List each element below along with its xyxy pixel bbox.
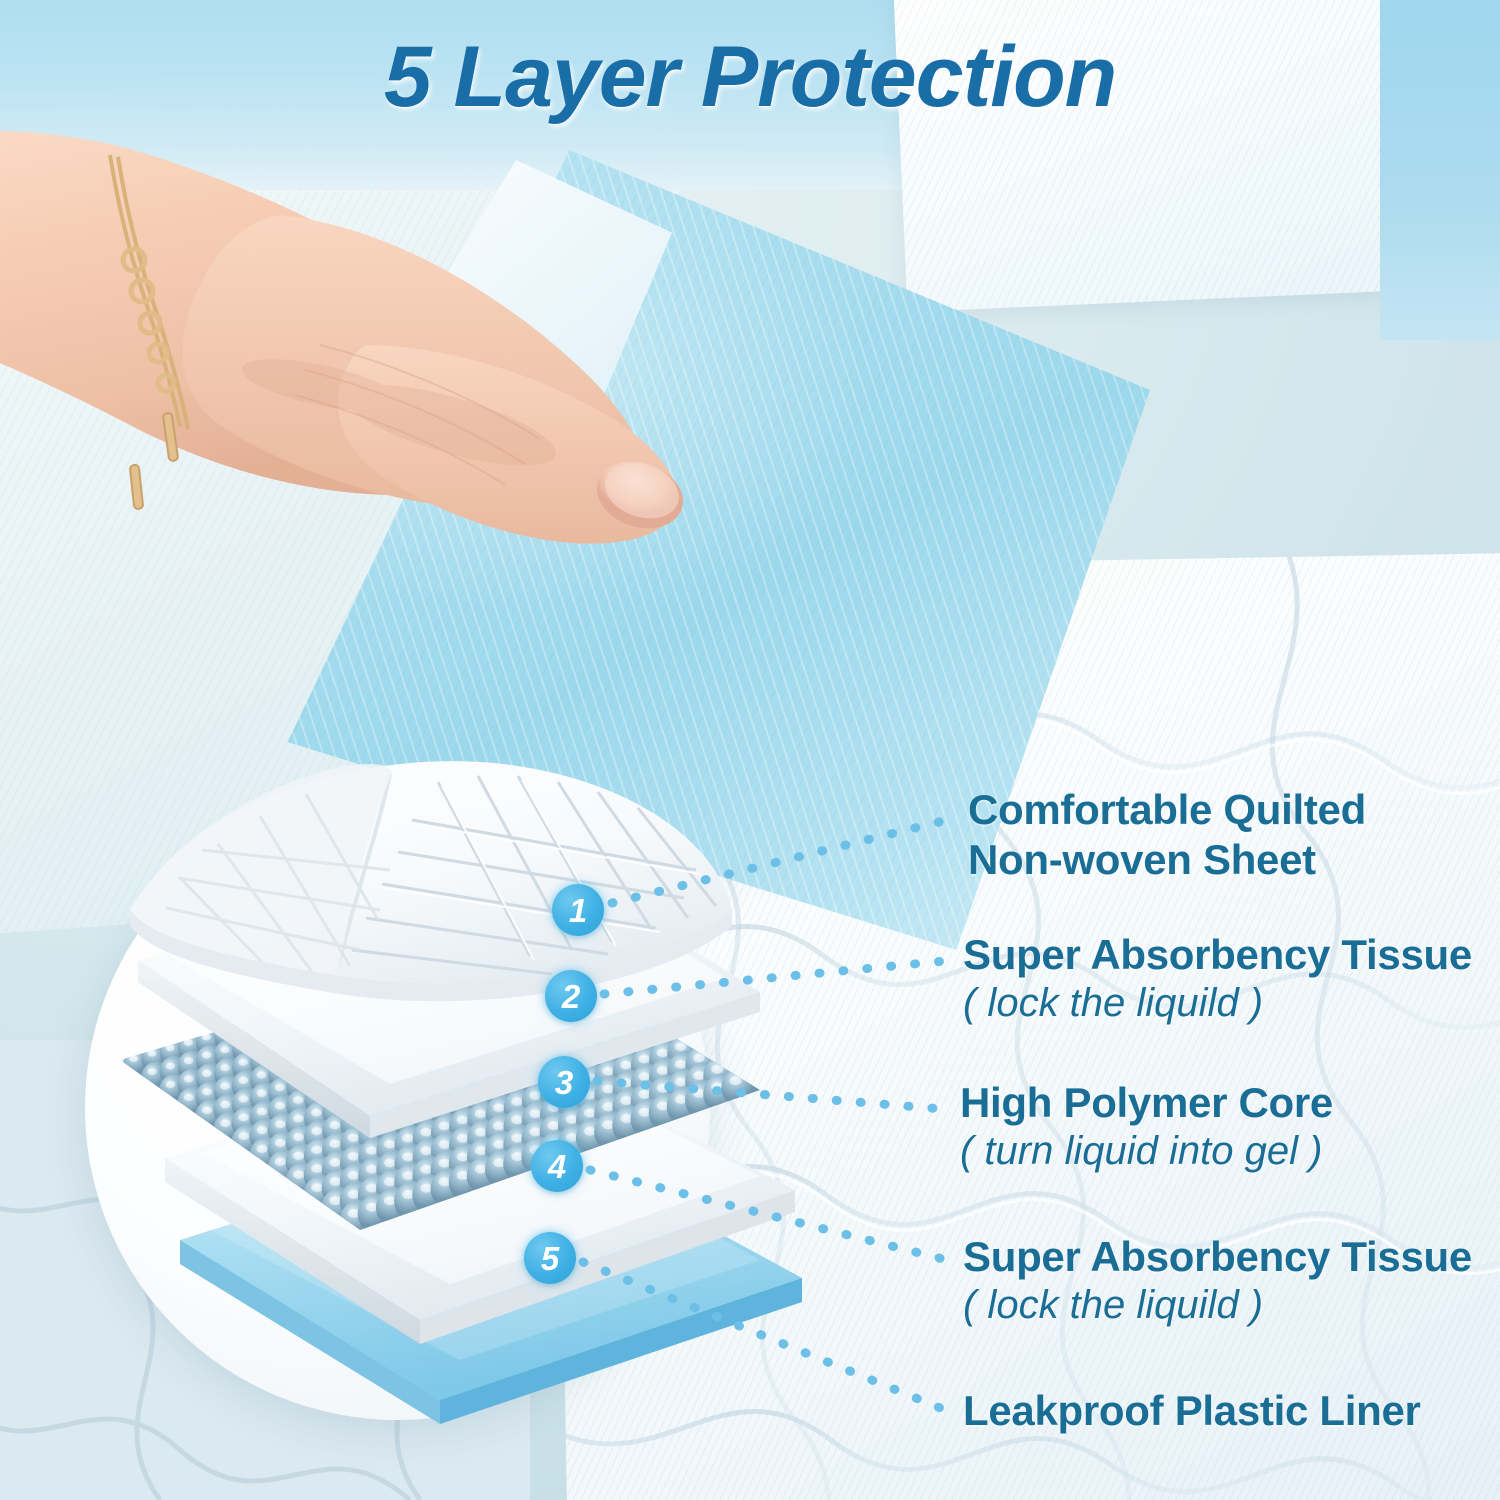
badge-4-number: 4	[548, 1150, 566, 1183]
label-1-line1: Comfortable Quilted	[968, 785, 1366, 835]
hand-illustration	[0, 95, 850, 615]
layer-stack-illustration	[60, 760, 800, 1460]
badge-3-number: 3	[555, 1066, 573, 1099]
badge-1-number: 1	[569, 894, 587, 927]
label-5-line1: Leakproof Plastic Liner	[963, 1386, 1421, 1436]
label-3-line1: High Polymer Core	[960, 1078, 1333, 1128]
layer-badge-4[interactable]: 4	[531, 1140, 583, 1192]
label-1-line2: Non-woven Sheet	[968, 835, 1366, 885]
layer-badge-1[interactable]: 1	[552, 884, 604, 936]
layer-stack-svg	[60, 760, 800, 1460]
label-4-subtext: ( lock the liquild )	[963, 1282, 1472, 1329]
infographic-canvas: 5 Layer Protection	[0, 0, 1500, 1500]
label-2-line1: Super Absorbency Tissue	[963, 930, 1472, 980]
label-4-line1: Super Absorbency Tissue	[963, 1232, 1472, 1282]
label-1-quilted-nonwoven-sheet: Comfortable Quilted Non-woven Sheet	[968, 785, 1366, 884]
layer-badge-2[interactable]: 2	[545, 970, 597, 1022]
badge-2-number: 2	[562, 980, 580, 1013]
label-4-super-absorbency-tissue: Super Absorbency Tissue ( lock the liqui…	[963, 1232, 1472, 1329]
layer-badge-3[interactable]: 3	[538, 1056, 590, 1108]
label-2-subtext: ( lock the liquild )	[963, 980, 1472, 1027]
label-2-super-absorbency-tissue: Super Absorbency Tissue ( lock the liqui…	[963, 930, 1472, 1027]
label-3-high-polymer-core: High Polymer Core ( turn liquid into gel…	[960, 1078, 1333, 1175]
layer-1-quilted-sheet	[130, 761, 732, 1001]
label-3-subtext: ( turn liquid into gel )	[960, 1128, 1333, 1175]
layer-badge-5[interactable]: 5	[524, 1232, 576, 1284]
badge-5-number: 5	[541, 1242, 559, 1275]
hand-holding-pad	[0, 95, 850, 615]
page-title: 5 Layer Protection	[0, 28, 1500, 127]
label-5-leakproof-plastic-liner: Leakproof Plastic Liner	[963, 1386, 1421, 1436]
